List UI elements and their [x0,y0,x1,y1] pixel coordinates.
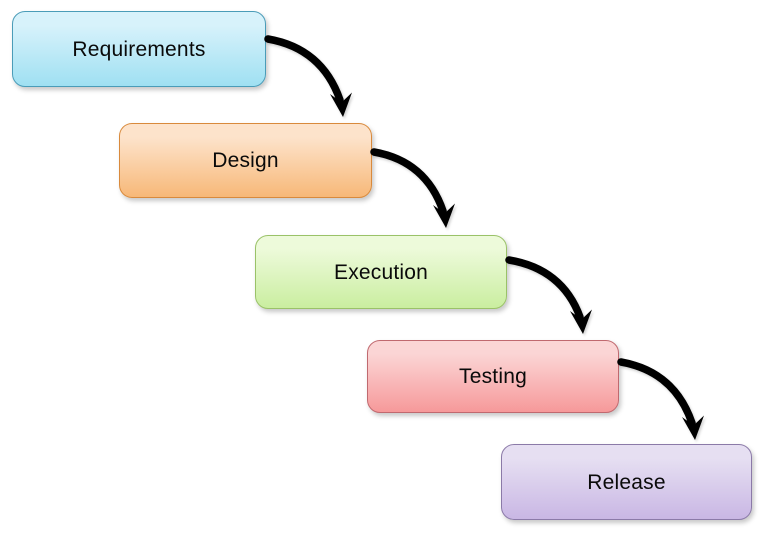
arrow-execution-to-testing-shaft [509,260,580,317]
stage-box-testing[interactable]: Testing [367,340,619,413]
stage-label-requirements: Requirements [72,39,205,60]
arrow-design-to-execution-head [433,204,455,229]
stage-label-release: Release [587,472,665,493]
stage-label-execution: Execution [334,262,428,283]
stage-box-requirements[interactable]: Requirements [12,11,266,87]
arrow-requirements-to-design-shaft [268,39,340,100]
arrow-execution-to-testing-head [570,310,592,335]
arrow-design-to-execution-shaft [374,152,443,211]
arrow-testing-to-release-head [682,416,704,441]
stage-box-design[interactable]: Design [119,123,372,198]
arrow-requirements-to-design-head [330,93,352,118]
stage-box-release[interactable]: Release [501,444,752,520]
stage-label-design: Design [212,150,279,171]
waterfall-diagram-canvas: Requirements Design Execution Testing Re… [0,0,762,534]
stage-box-execution[interactable]: Execution [255,235,507,309]
stage-label-testing: Testing [459,366,527,387]
arrow-testing-to-release-shaft [621,362,692,423]
